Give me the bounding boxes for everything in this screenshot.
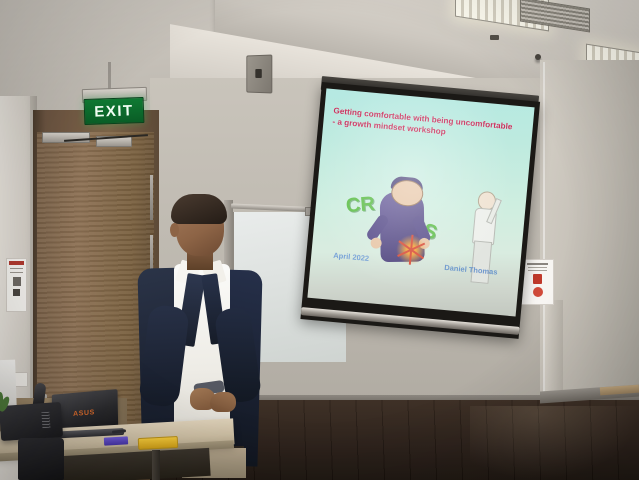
wall-notice-right (521, 259, 554, 305)
notice-line (528, 270, 547, 271)
notice-line (10, 272, 23, 273)
notice-line (10, 268, 23, 269)
notice-header-bar (527, 263, 548, 265)
notice-symbol (533, 274, 542, 284)
bag-under-desk[interactable] (18, 438, 64, 480)
exit-sign: EXIT (84, 97, 145, 125)
notice-pictogram (13, 277, 21, 286)
exit-sign-stem (108, 62, 111, 90)
notice-header-bar (9, 261, 24, 265)
yellow-tray[interactable] (138, 436, 179, 450)
projected-slide: Getting comfortable with being uncomfort… (307, 88, 534, 316)
graphic-figure2-legs (470, 240, 492, 283)
notice-pictogram (13, 289, 20, 296)
slide-date: April 2022 (333, 251, 370, 263)
notice-symbol (533, 287, 543, 297)
blue-marker[interactable] (104, 436, 128, 445)
presenter-ear (170, 223, 179, 237)
seminar-room-photo: EXIT Getting comfortable with being unco… (0, 0, 639, 480)
wall-notice-left (6, 258, 27, 312)
projection-screen: Getting comfortable with being uncomfort… (300, 82, 540, 339)
graphic-impact-burst (395, 233, 428, 266)
ceiling-sensor (490, 35, 499, 40)
presenter-hand-right (210, 392, 236, 412)
wall-speaker (246, 54, 272, 93)
exit-sign-label: EXIT (94, 102, 134, 120)
small-plant (0, 392, 6, 422)
graphic-word-cr: CR (345, 193, 376, 218)
wall-corner-post (545, 300, 563, 400)
slide-graphic: CR IS IS (339, 183, 507, 297)
notice-line (528, 267, 547, 268)
desk-leg (152, 450, 160, 480)
slide-title: Getting comfortable with being uncomfort… (332, 105, 513, 143)
presenter-hair (171, 194, 227, 224)
desk-speaker-box[interactable] (0, 402, 63, 441)
floor-light-reflection (470, 406, 639, 480)
laptop-brand-logo: ASUS (73, 409, 95, 418)
